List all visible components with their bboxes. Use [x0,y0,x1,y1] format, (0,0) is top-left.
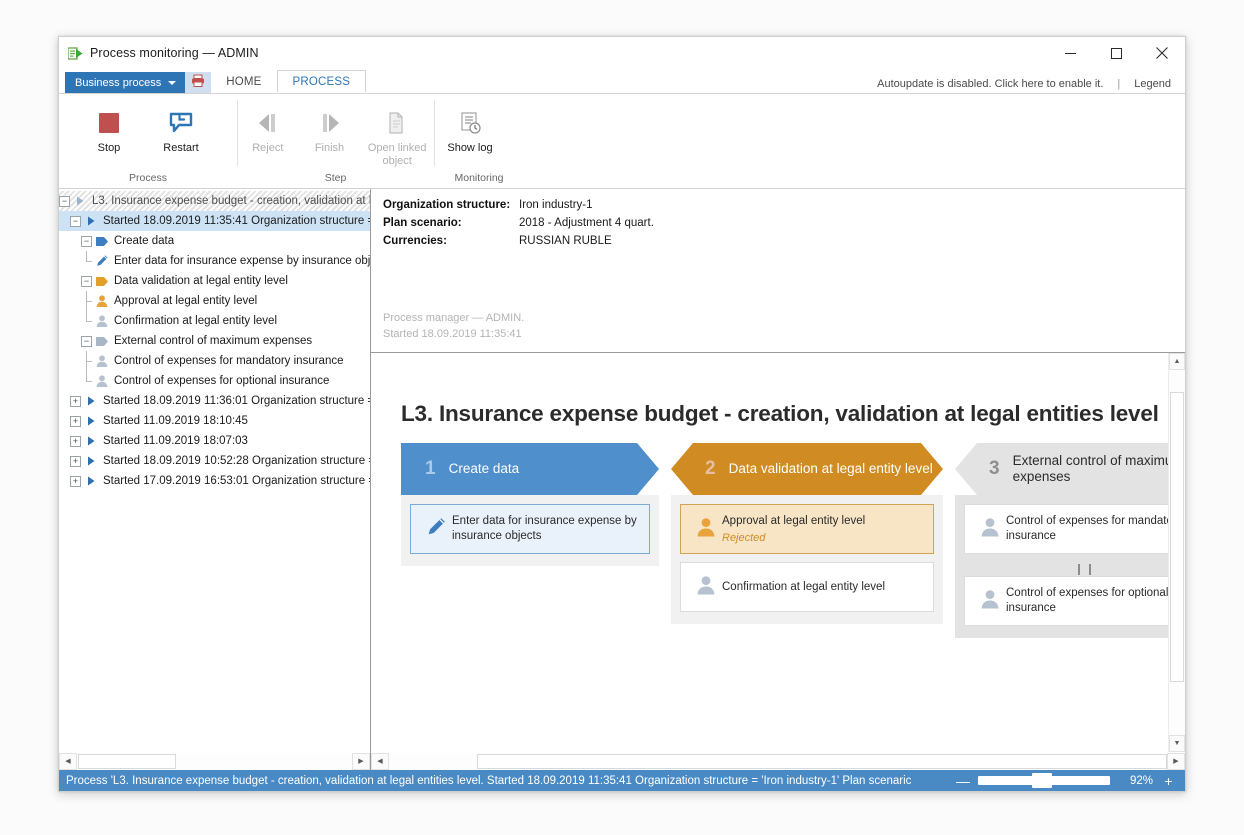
right-pane: Organization structure: Iron industry-1 … [371,189,1185,752]
ribbon-group-step-label: Step [237,168,434,188]
task-card-icon-wrap [690,516,722,543]
tree-horizontal-scrollbar[interactable]: ◀ ▶ [59,752,371,770]
tree-row-label: Started 18.09.2019 11:36:01 Organization… [103,395,370,407]
task-card[interactable]: Control of expenses for optional insuran… [964,576,1168,626]
ribbon-group-step: Reject Finish [237,94,434,188]
tree-hscroll-thumb[interactable] [78,754,176,769]
diagram-area: L3. Insurance expense budget - creation,… [371,353,1185,752]
tree-row-label: Started 18.09.2019 11:35:41 Organization… [103,215,370,227]
zoom-out-button[interactable]: — [956,773,969,789]
autoupdate-notice[interactable]: Autoupdate is disabled. Click here to en… [877,78,1103,90]
process-tree[interactable]: −L3. Insurance expense budget - creation… [59,189,370,752]
tree-row-icon-wrap [70,195,90,207]
tree-row-label: Started 11.09.2019 18:10:45 [103,415,248,427]
tree-row[interactable]: Control of expenses for optional insuran… [59,371,370,391]
expand-toggle-icon[interactable]: + [70,476,81,487]
tree-indent-guide [70,291,81,311]
tree-row-icon-wrap [92,276,112,287]
diagram-stage[interactable]: 3External control of maximum expensesCon… [955,443,1168,638]
close-button[interactable] [1139,37,1185,69]
ribbon-group-monitoring: Show log Monitoring [434,94,524,188]
play-blue-icon [85,435,97,447]
task-card[interactable]: Enter data for insurance expense by insu… [410,504,650,554]
process-arrow-icon [68,47,83,60]
tree-row-label: Confirmation at legal entity level [114,315,277,327]
tree-row-label: Approval at legal entity level [114,295,257,307]
screen-root: Process monitoring — ADMIN Business proc… [0,0,1244,835]
detail-footer: Process manager — ADMIN. Started 18.09.2… [383,310,524,342]
zoom-slider-handle[interactable] [1032,773,1052,788]
user-grey-icon [95,314,109,328]
open-linked-object-label: Open linked object [360,142,434,168]
ribbon-group-monitoring-label: Monitoring [434,168,524,188]
detail-key: Organization structure: [383,199,519,211]
vscroll-thumb[interactable] [1170,392,1184,682]
open-linked-object-button[interactable]: Open linked object [360,100,434,168]
stage-number: 2 [705,458,716,480]
business-process-button[interactable]: Business process [65,72,185,93]
pencil-icon [425,516,447,543]
tree-indent-guide [59,411,70,431]
diagram-hscroll-track[interactable] [389,753,1167,770]
tree-indent-guide [81,311,92,331]
tree-row-label: Create data [114,235,174,247]
zoom-in-button[interactable]: + [1162,773,1175,789]
restart-label: Restart [163,142,198,155]
finish-right-arrow-icon [316,106,344,140]
detail-key: Plan scenario: [383,217,519,229]
tree-row[interactable]: +Started 18.09.2019 10:52:28 Organizatio… [59,451,370,471]
reject-button[interactable]: Reject [237,100,299,168]
tree-row[interactable]: Approval at legal entity level [59,291,370,311]
chevron-down-icon [168,81,176,85]
tree-indent-guide [59,431,70,451]
ribbon-tab-row: Business process HOME PROCESS Autoupdate… [59,69,1185,93]
user-grey-icon [695,574,717,601]
stage-grey-icon [95,336,109,347]
detail-row: Currencies: RUSSIAN RUBLE [383,235,1185,247]
collapse-toggle-icon[interactable]: − [70,216,81,227]
tree-row[interactable]: +Started 18.09.2019 11:36:01 Organizatio… [59,391,370,411]
connector-tick [1089,564,1091,575]
ribbon-group-process: Stop Restart Process [59,94,237,188]
scroll-down-icon[interactable]: ▼ [1169,735,1185,752]
expand-toggle-icon[interactable]: + [70,396,81,407]
tree-row-label: External control of maximum expenses [114,335,312,347]
main-area: −L3. Insurance expense budget - creation… [59,189,1185,752]
expand-toggle-icon[interactable]: + [70,416,81,427]
tree-indent-guide [70,231,81,251]
stage-header[interactable]: 2Data validation at legal entity level [671,443,943,495]
stage-orange-icon [95,276,109,287]
play-blue-icon [85,395,97,407]
play-blue-icon [85,415,97,427]
user-grey-icon [95,374,109,388]
detail-row: Organization structure: Iron industry-1 [383,199,1185,211]
tree-indent-guide [70,351,81,371]
tree-indent-guide [59,231,70,251]
log-clock-icon [456,106,484,140]
stage-header[interactable]: 3External control of maximum expenses [955,443,1168,495]
task-card-label: Confirmation at legal entity level [722,580,885,595]
tree-row-icon-wrap [92,354,112,368]
tree-indent-guide [70,311,81,331]
task-card[interactable]: Approval at legal entity levelRejected [680,504,934,554]
stage-body: Control of expenses for mandatory insura… [955,495,1168,638]
status-text: Process 'L3. Insurance expense budget - … [66,775,956,787]
tree-row-label: Control of expenses for optional insuran… [114,375,329,387]
process-detail-panel: Organization structure: Iron industry-1 … [371,189,1185,353]
reject-label: Reject [252,142,283,155]
diagram-horizontal-scrollbar[interactable]: ◀ ▶ [371,752,1185,770]
diagram-vertical-scrollbar[interactable]: ▲ ▼ [1168,353,1185,752]
stage-connector-marks [964,562,1168,576]
task-card-text-wrap: Control of expenses for optional insuran… [1006,586,1168,616]
zoom-slider[interactable] [978,776,1110,785]
tree-row-icon-wrap [92,236,112,247]
detail-value: 2018 - Adjustment 4 quart. [519,217,654,229]
diagram-stages: 1Create dataEnter data for insurance exp… [401,443,1168,638]
show-log-button[interactable]: Show log [434,100,506,168]
scroll-right-icon[interactable]: ▶ [1167,753,1185,770]
tree-row-icon-wrap [81,215,101,227]
tree-row[interactable]: +Started 11.09.2019 18:10:45 [59,411,370,431]
ribbon-body: Stop Restart Process [59,93,1185,189]
linked-document-icon [384,106,410,140]
diagram-title: L3. Insurance expense budget - creation,… [401,401,1168,427]
zoom-percent: 92% [1119,775,1153,787]
tree-row-icon-wrap [81,415,101,427]
diagram-hscroll-thumb[interactable] [477,754,1167,769]
stage-number: 1 [425,458,436,480]
tree-indent-guide [70,271,81,291]
finish-label: Finish [315,142,344,155]
user-orange-icon [95,294,109,308]
tree-row-label: Started 11.09.2019 18:07:03 [103,435,248,447]
scroll-left-icon[interactable]: ◀ [371,753,389,770]
tree-row-icon-wrap [92,294,112,308]
status-bar: Process 'L3. Insurance expense budget - … [59,770,1185,791]
maximize-button[interactable] [1093,37,1139,69]
collapse-toggle-icon[interactable]: − [81,336,92,347]
task-card-icon-wrap [690,574,722,601]
tree-row-label: L3. Insurance expense budget - creation,… [92,195,370,207]
stage-title: Create data [449,461,520,477]
task-card-text-wrap: Enter data for insurance expense by insu… [452,514,640,544]
horizontal-scrollbar-row: ◀ ▶ ◀ ▶ [59,752,1185,770]
print-button[interactable] [185,72,211,93]
play-blue-icon [85,475,97,487]
detail-value: Iron industry-1 [519,199,593,211]
task-card-text-wrap: Confirmation at legal entity level [722,580,885,595]
user-orange-icon [695,516,717,543]
scroll-right-icon[interactable]: ▶ [352,753,370,770]
legend-link[interactable]: Legend [1134,78,1171,90]
tree-hscroll-track[interactable] [77,753,352,770]
play-blue-icon [85,215,97,227]
window-controls [1047,37,1185,69]
detail-row: Plan scenario: 2018 - Adjustment 4 quart… [383,217,1185,229]
diagram-stage[interactable]: 2Data validation at legal entity levelAp… [671,443,943,624]
minimize-button[interactable] [1047,37,1093,69]
tree-indent-guide [59,471,70,491]
tree-row[interactable]: +Started 17.09.2019 16:53:01 Organizatio… [59,471,370,491]
application-window: Process monitoring — ADMIN Business proc… [58,36,1186,792]
tree-row-icon-wrap [81,455,101,467]
tree-row-icon-wrap [81,475,101,487]
restart-button[interactable]: Restart [145,100,217,168]
tree-row-icon-wrap [81,395,101,407]
task-card-text-wrap: Control of expenses for mandatory insura… [1006,514,1168,544]
stop-square-icon [96,106,122,140]
pencil-icon [95,254,109,268]
show-log-label: Show log [447,142,492,155]
tab-process-label: PROCESS [293,76,351,88]
title-bar: Process monitoring — ADMIN [59,37,1185,69]
collapse-toggle-icon[interactable]: − [81,236,92,247]
task-card-label: Enter data for insurance expense by insu… [452,514,640,544]
printer-icon [191,74,205,92]
detail-footer-started: Started 18.09.2019 11:35:41 [383,326,524,342]
task-card-icon-wrap [974,516,1006,543]
task-card[interactable]: Confirmation at legal entity level [680,562,934,612]
detail-key: Currencies: [383,235,519,247]
task-card-icon-wrap [974,588,1006,615]
ribbon-group-process-label: Process [59,168,237,188]
tree-indent-guide [81,251,92,271]
tab-home-label: HOME [226,76,261,88]
stage-header[interactable]: 1Create data [401,443,659,495]
tree-row[interactable]: Confirmation at legal entity level [59,311,370,331]
tree-row[interactable]: −L3. Insurance expense budget - creation… [59,191,370,211]
stage-title: Data validation at legal entity level [729,461,933,477]
tree-row-label: Data validation at legal entity level [114,275,288,287]
vscroll-track[interactable] [1169,370,1185,735]
process-tree-pane: −L3. Insurance expense budget - creation… [59,189,371,752]
user-grey-icon [979,516,1001,543]
user-grey-icon [979,588,1001,615]
task-card-icon-wrap [420,516,452,543]
tree-indent-guide [70,331,81,351]
expand-toggle-icon[interactable]: + [70,456,81,467]
tree-row[interactable]: −Create data [59,231,370,251]
stage-blue-icon [95,236,109,247]
tree-row[interactable]: −Started 18.09.2019 11:35:41 Organizatio… [59,211,370,231]
task-card-text-wrap: Approval at legal entity levelRejected [722,514,865,544]
play-blue-icon [85,455,97,467]
expand-toggle-icon[interactable]: + [70,436,81,447]
task-card[interactable]: Control of expenses for mandatory insura… [964,504,1168,554]
tree-row-label: Started 17.09.2019 16:53:01 Organization… [103,475,370,487]
collapse-toggle-icon[interactable]: − [59,196,70,207]
tree-row-icon-wrap [92,336,112,347]
stage-body: Approval at legal entity levelRejectedCo… [671,495,943,624]
connector-tick [1078,564,1080,575]
tree-row[interactable]: −Data validation at legal entity level [59,271,370,291]
tree-indent-guide [59,291,70,311]
tab-home[interactable]: HOME [211,71,276,93]
tree-indent-guide [59,391,70,411]
play-grey-icon [74,195,86,207]
scroll-up-icon[interactable]: ▲ [1169,353,1185,370]
tree-indent-guide [59,311,70,331]
tree-row-icon-wrap [92,254,112,268]
task-card-label: Control of expenses for optional insuran… [1006,586,1168,616]
window-title: Process monitoring — ADMIN [90,46,259,60]
diagram-stage[interactable]: 1Create dataEnter data for insurance exp… [401,443,659,566]
tree-row[interactable]: +Started 11.09.2019 18:07:03 [59,431,370,451]
stage-body: Enter data for insurance expense by insu… [401,495,659,566]
tree-indent-guide [81,291,92,311]
stage-title: External control of maximum expenses [1013,453,1168,485]
tree-row[interactable]: −External control of maximum expenses [59,331,370,351]
tree-indent-guide [70,371,81,391]
finish-button[interactable]: Finish [299,100,361,168]
tree-row[interactable]: Control of expenses for mandatory insura… [59,351,370,371]
tree-row-label: Enter data for insurance expense by insu… [114,255,370,267]
task-card-label: Control of expenses for mandatory insura… [1006,514,1168,544]
zoom-control: — 92% + [956,773,1185,789]
diagram-canvas: L3. Insurance expense budget - creation,… [401,401,1168,752]
restart-loop-icon [166,106,196,140]
tree-row-label: Control of expenses for mandatory insura… [114,355,343,367]
tree-indent-guide [59,211,70,231]
tree-row-icon-wrap [92,374,112,388]
info-separator: | [1117,78,1120,90]
task-card-status: Rejected [722,532,865,544]
detail-value: RUSSIAN RUBLE [519,235,612,247]
ribbon-right-info: Autoupdate is disabled. Click here to en… [877,78,1185,93]
scroll-left-icon[interactable]: ◀ [59,753,77,770]
tree-indent-guide [81,371,92,391]
process-diagram[interactable]: L3. Insurance expense budget - creation,… [371,353,1168,752]
tree-indent-guide [70,251,81,271]
tree-indent-guide [59,251,70,271]
tree-row-icon-wrap [81,435,101,447]
tree-indent-guide [59,331,70,351]
tree-row-icon-wrap [92,314,112,328]
tree-indent-guide [59,351,70,371]
stage-number: 3 [989,458,1000,480]
collapse-toggle-icon[interactable]: − [81,276,92,287]
tree-indent-guide [59,271,70,291]
stop-label: Stop [98,142,121,155]
task-card-label: Approval at legal entity level [722,514,865,529]
user-grey-icon [95,354,109,368]
stop-button[interactable]: Stop [73,100,145,168]
tree-indent-guide [59,371,70,391]
tab-process[interactable]: PROCESS [277,70,367,93]
reject-left-arrow-icon [254,106,282,140]
tree-row[interactable]: Enter data for insurance expense by insu… [59,251,370,271]
tree-indent-guide [81,351,92,371]
detail-footer-manager: Process manager — ADMIN. [383,310,524,326]
tree-indent-guide [59,451,70,471]
tree-row-label: Started 18.09.2019 10:52:28 Organization… [103,455,370,467]
business-process-label: Business process [75,77,161,89]
